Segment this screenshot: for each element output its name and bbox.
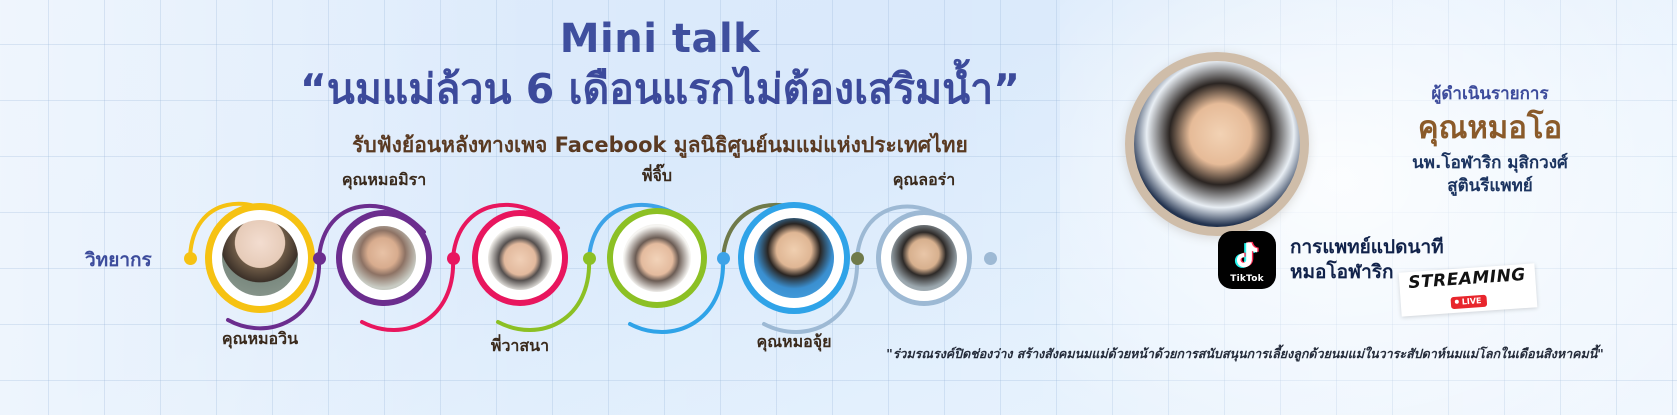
host-specialty: สูตินรีแพทย์: [1335, 175, 1645, 198]
timeline-dot-6: [851, 252, 864, 265]
live-label: LIVE: [1461, 296, 1481, 306]
timeline-dot-5: [717, 252, 730, 265]
title-quote: “นมแม่ล้วน 6 เดือนแรกไม่ต้องเสริมน้ำ”: [210, 62, 1110, 117]
timeline-dot-3: [447, 252, 460, 265]
timeline-dot-7: [984, 252, 997, 265]
speaker-3-name: พี่วาสนา: [410, 334, 630, 359]
speaker-3-ring: [472, 210, 568, 306]
streaming-label: STREAMING: [1408, 267, 1527, 292]
speaker-5-avatar: [754, 218, 834, 298]
timeline-dot-2: [313, 252, 326, 265]
footer-note: "ร่วมรณรงค์ปิดช่องว่าง สร้างสังคมนมแม่ด้…: [835, 344, 1655, 364]
speaker-2-avatar: [352, 226, 416, 290]
speaker-2-ring: [336, 210, 432, 306]
host-full-name: นพ.โอฬาริก มุสิกวงศ์: [1335, 152, 1645, 175]
tiktok-icon[interactable]: TikTok: [1218, 231, 1276, 289]
speakers-timeline: คุณหมอวิน คุณหมอมิรา พี่วาสนา พี่จิ๊บ: [0, 170, 1110, 350]
live-dot-icon: [1455, 300, 1459, 304]
speaker-5-ring: [738, 202, 850, 314]
speaker-4-ring: [607, 208, 707, 308]
speaker-2-name: คุณหมอมิรา: [274, 168, 494, 193]
speaker-1-name: คุณหมอวิน: [150, 327, 370, 352]
mini-talk-banner: Mini talk “นมแม่ล้วน 6 เดือนแรกไม่ต้องเส…: [0, 0, 1677, 415]
timeline-dot-4: [583, 252, 596, 265]
host-nickname: คุณหมอโอ: [1335, 109, 1645, 148]
speaker-4-name: พี่จิ๊บ: [547, 164, 767, 189]
headline-block: Mini talk “นมแม่ล้วน 6 เดือนแรกไม่ต้องเส…: [210, 18, 1110, 162]
speaker-6-ring: [876, 210, 972, 306]
tiktok-note-glyph: [1230, 239, 1264, 273]
timeline-dot-1: [184, 252, 197, 265]
host-avatar: [1134, 61, 1300, 227]
speaker-1-avatar: [222, 220, 298, 296]
speaker-3-avatar: [488, 226, 552, 290]
host-photo-ring: [1125, 52, 1309, 236]
streaming-badge: STREAMING LIVE: [1399, 263, 1537, 316]
tiktok-wordmark: TikTok: [1230, 274, 1264, 284]
subtitle: รับฟังย้อนหลังทางเพจ Facebook มูลนิธิศูน…: [210, 129, 1110, 162]
speaker-4-avatar: [623, 224, 691, 292]
host-role: ผู้ดำเนินรายการ: [1335, 80, 1645, 107]
channel-name-line-1: การแพทย์แปดนาที: [1290, 235, 1444, 260]
host-details: ผู้ดำเนินรายการ คุณหมอโอ นพ.โอฬาริก มุสิ…: [1335, 80, 1645, 198]
speaker-6-avatar: [891, 225, 957, 291]
page-title: Mini talk: [210, 18, 1110, 60]
speaker-1-ring: [205, 203, 315, 313]
speaker-6-name: คุณลอร่า: [814, 168, 1034, 193]
live-badge: LIVE: [1450, 294, 1486, 308]
